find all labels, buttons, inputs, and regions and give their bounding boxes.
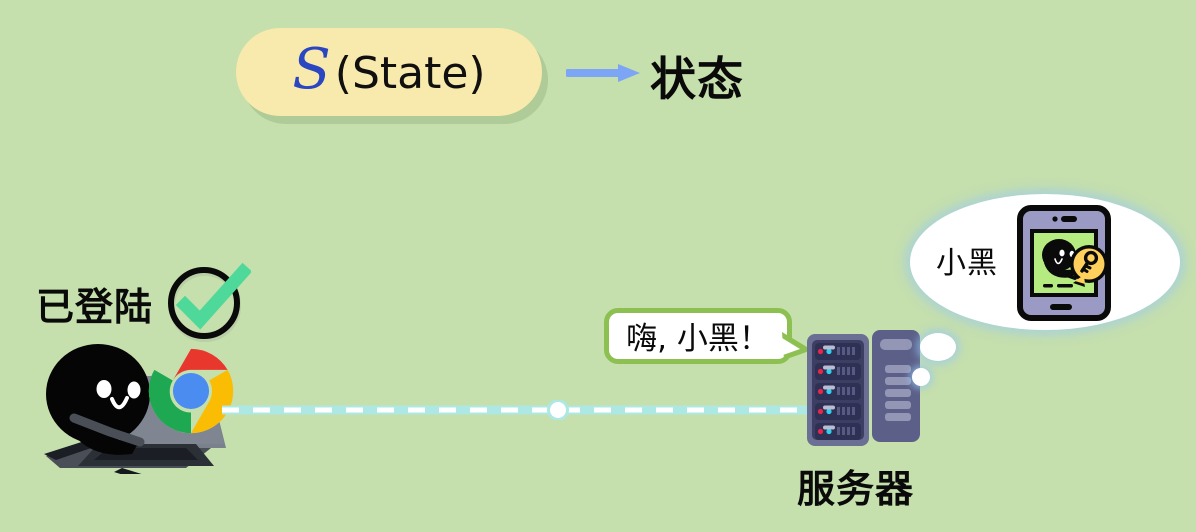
state-title-pill: S (State) bbox=[236, 28, 542, 116]
thought-bubble-dot-small-icon bbox=[912, 368, 930, 386]
thought-bubble-dot-large-icon bbox=[920, 333, 956, 361]
server-label: 服务器 bbox=[797, 458, 914, 513]
server-rack-icon bbox=[806, 330, 922, 448]
state-title-inner: S (State) bbox=[292, 42, 485, 98]
check-circle-icon bbox=[167, 263, 251, 345]
logged-in-label: 已登陆 bbox=[36, 276, 153, 331]
dashed-connection-line-icon bbox=[222, 400, 822, 420]
right-arrow-icon bbox=[566, 62, 642, 84]
smartphone-icon bbox=[1017, 205, 1111, 321]
server-speech-bubble: 嗨, 小黑！ bbox=[604, 308, 792, 364]
chrome-logo-icon bbox=[148, 348, 234, 434]
server-speech-text: 嗨, 小黑！ bbox=[626, 313, 770, 358]
server-speech-bubble-body: 嗨, 小黑！ bbox=[604, 308, 792, 364]
illustration-canvas: S (State) 状态 已登陆 bbox=[0, 0, 1196, 532]
session-user-label: 小黑 bbox=[936, 238, 998, 282]
state-symbol: S bbox=[292, 42, 334, 98]
state-translation-label: 状态 bbox=[650, 43, 744, 109]
state-term-label: (State) bbox=[335, 52, 486, 96]
